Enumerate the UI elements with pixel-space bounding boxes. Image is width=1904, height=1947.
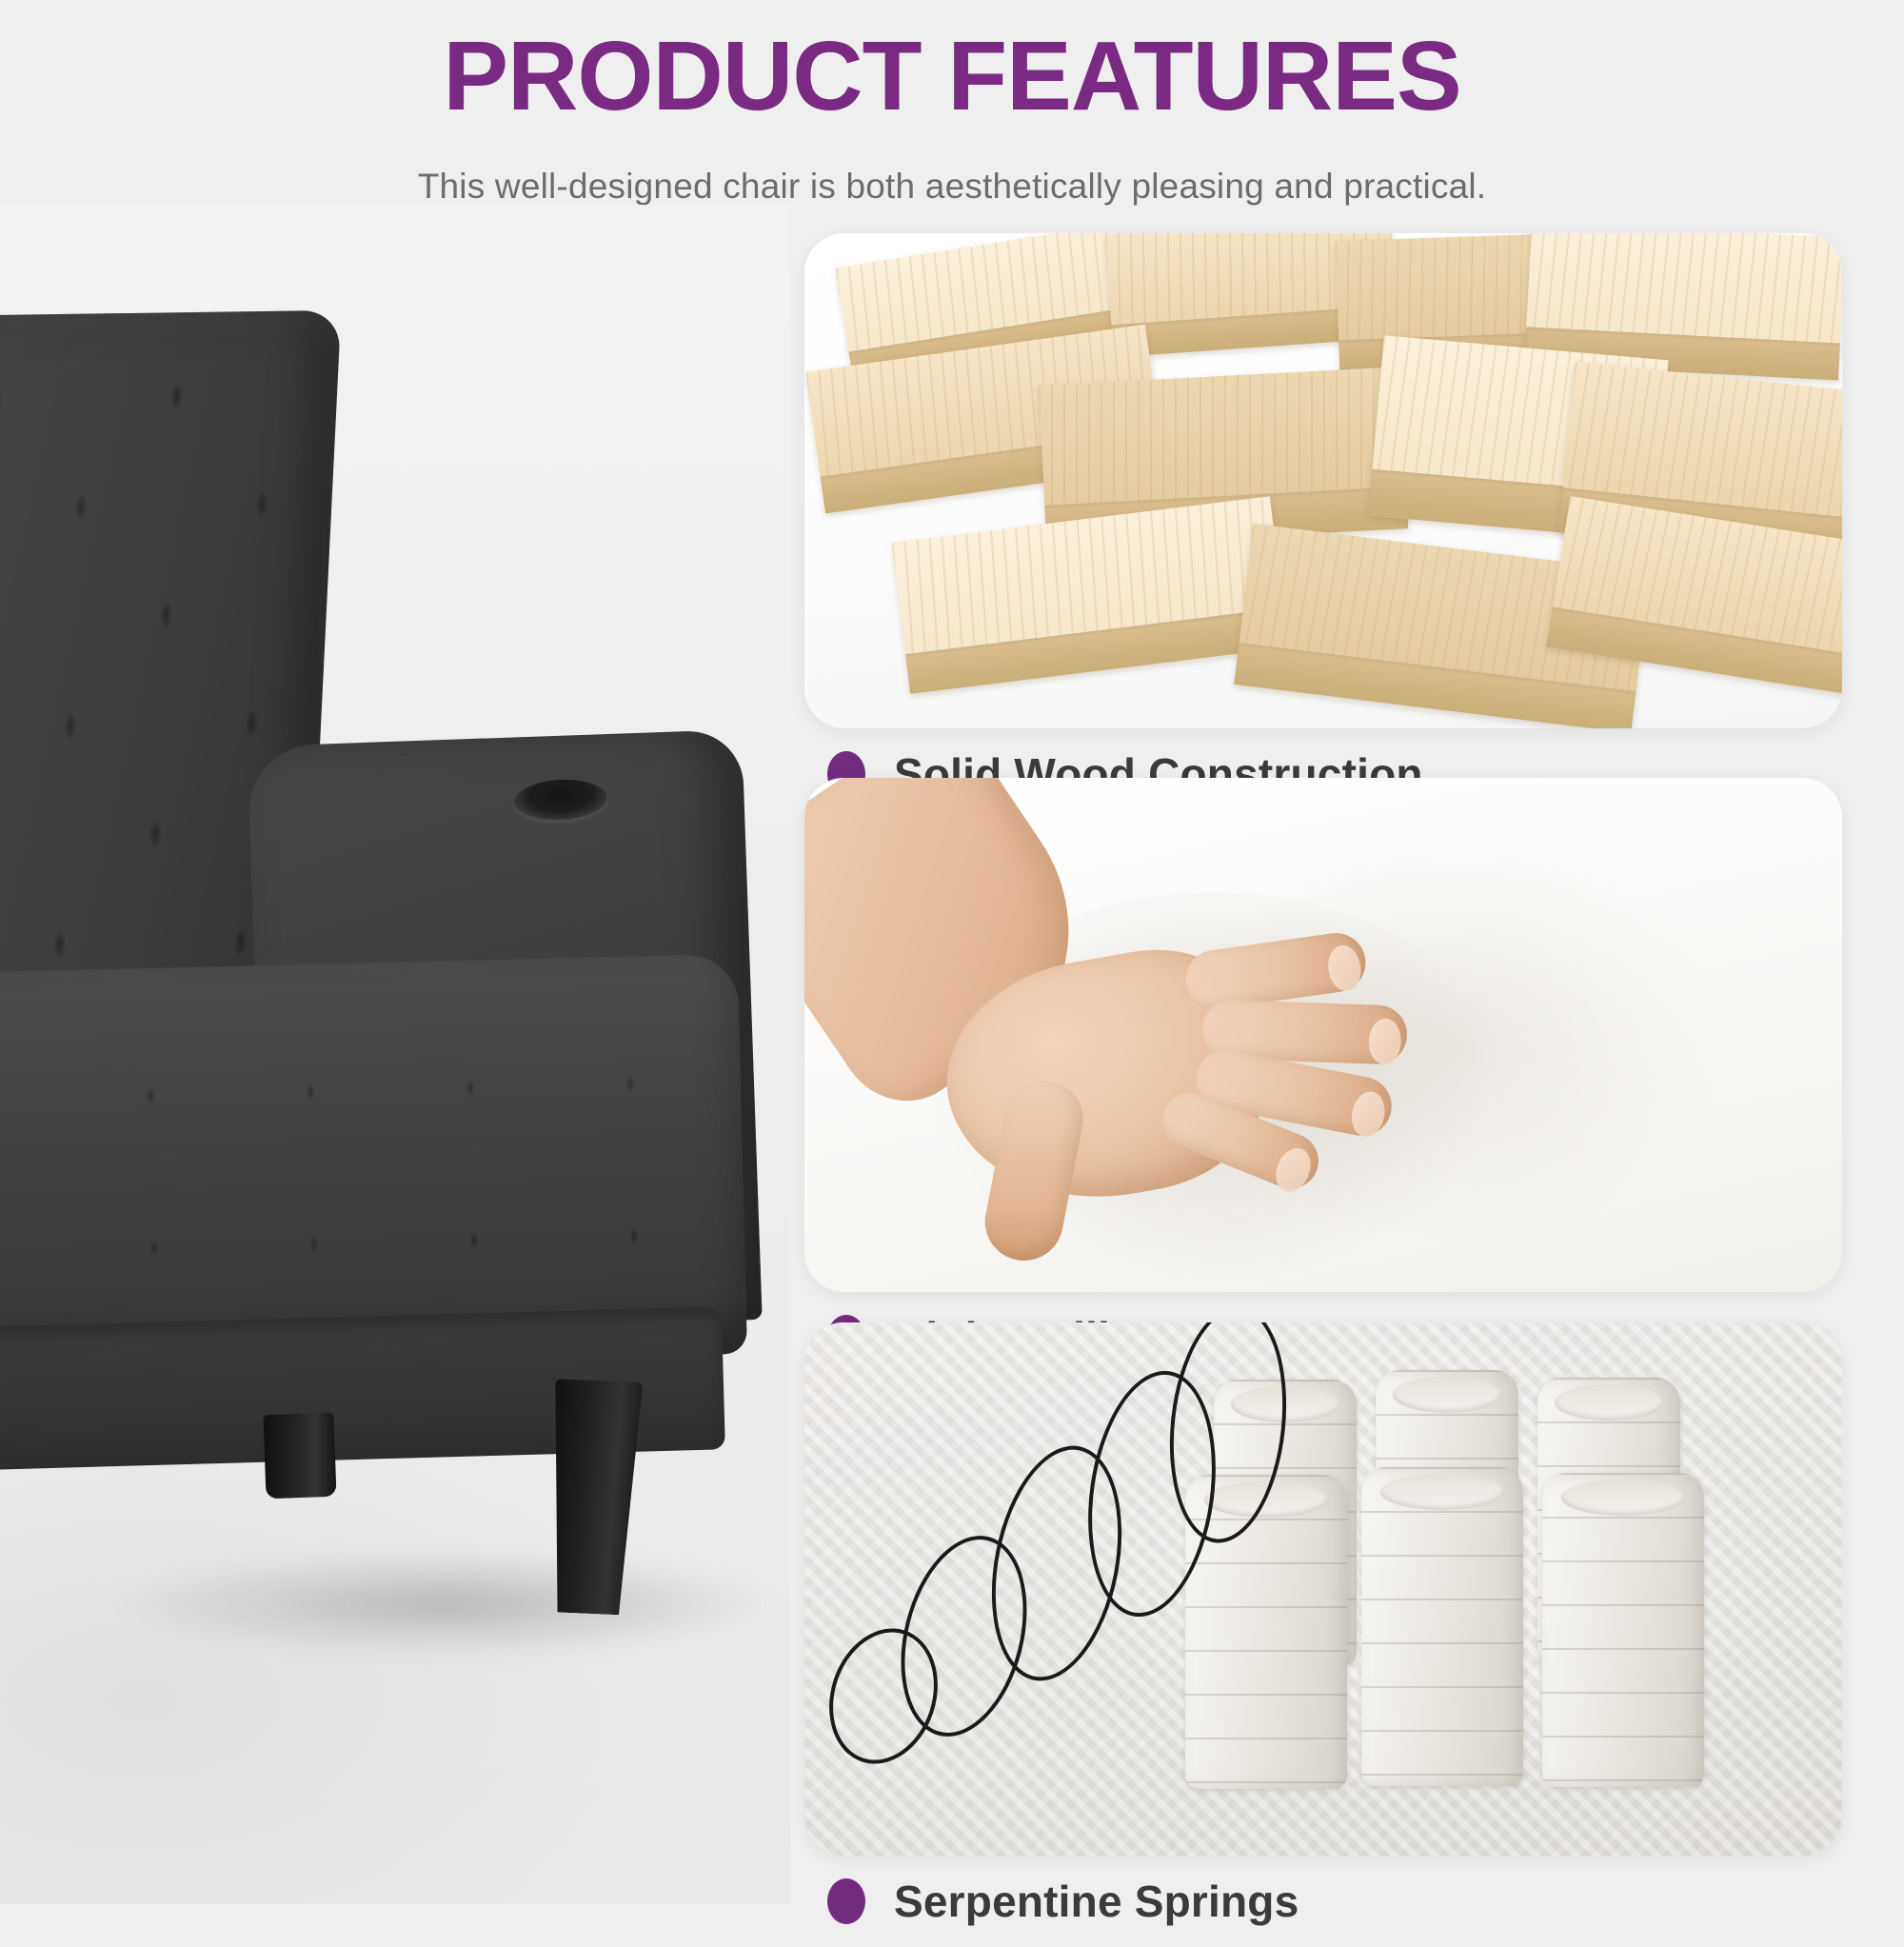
product-hero-image — [0, 205, 790, 1904]
wood-planks-illustration — [804, 233, 1842, 728]
pocket-coil — [1542, 1473, 1704, 1787]
pocket-coil — [1361, 1467, 1523, 1786]
feature-list: Solid Wood Construction High-resilience … — [804, 0, 1904, 1904]
feature-item-solid-wood: Solid Wood Construction — [804, 233, 1842, 820]
feature-image-card-foam — [804, 778, 1842, 1292]
chair-leg-rear — [263, 1413, 336, 1500]
feature-label-text: Serpentine Springs — [894, 1876, 1299, 1927]
feature-image-card-solid-wood — [804, 233, 1842, 728]
bullet-icon — [827, 1878, 865, 1924]
feature-label-springs: Serpentine Springs — [804, 1856, 1842, 1947]
springs-illustration — [804, 1322, 1842, 1856]
floor-shadow — [114, 1552, 781, 1657]
feature-item-high-resilience-foam: High-resilience Foam — [804, 778, 1842, 1383]
feature-image-card-springs — [804, 1322, 1842, 1856]
feature-item-serpentine-springs: Serpentine Springs — [804, 1322, 1842, 1947]
foam-hand-illustration — [804, 778, 1842, 1292]
